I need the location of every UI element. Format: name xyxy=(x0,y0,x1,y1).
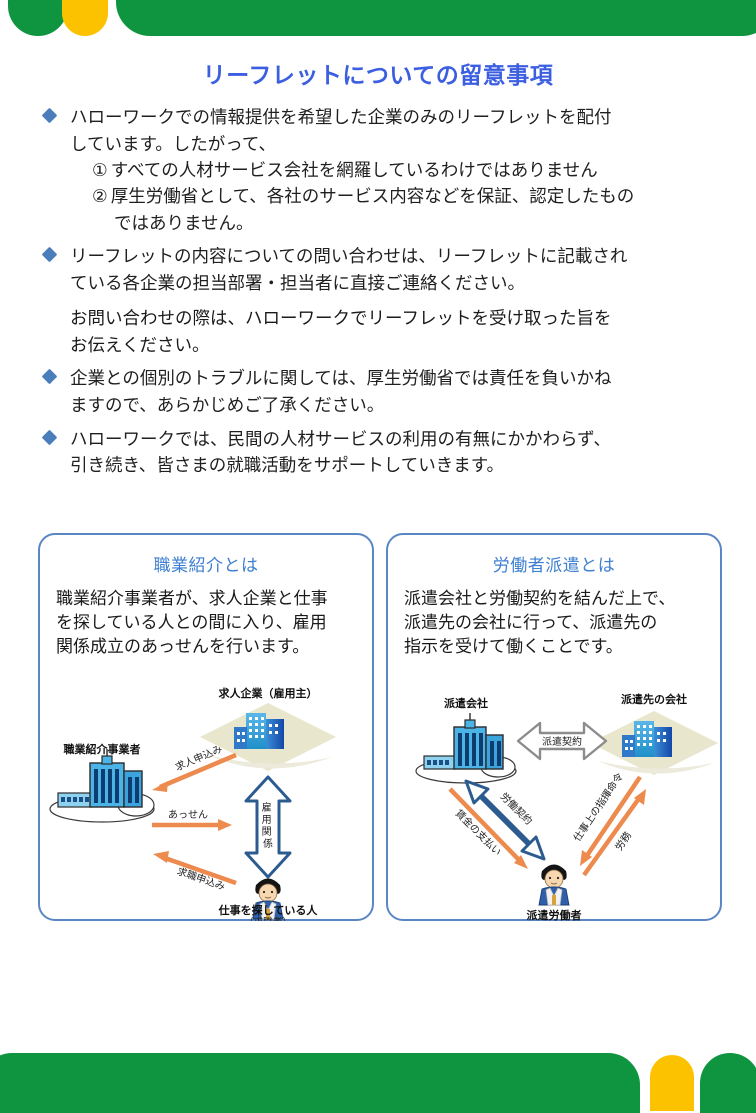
notice-line: 引き続き、皆さまの就職活動をサポートしていきます。 xyxy=(70,455,504,475)
notice-line: ますので、あらかじめご了承ください。 xyxy=(70,395,384,415)
label-employment-relation: 雇 用 関 係 xyxy=(262,801,275,850)
label-employer: 求人企業（雇用主） xyxy=(219,686,318,700)
notice-list: ハローワークでの情報提供を希望した企業のみのリーフレットを配付 しています。した… xyxy=(42,104,732,486)
panel-title: 労働者派遣とは xyxy=(388,551,720,576)
header-green-bar xyxy=(116,0,756,36)
panel-title: 職業紹介とは xyxy=(40,551,372,576)
panel-worker-dispatch: 労働者派遣とは 派遣会社と労働契約を結んだ上で、 派遣先の会社に行って、派遣先の… xyxy=(386,533,722,921)
label-dispatch-company: 派遣会社 xyxy=(444,696,488,710)
panel-job-placement: 職業紹介とは 職業紹介事業者が、求人企業と仕事 を探している人との間に入り、雇用… xyxy=(38,533,374,921)
notice-line: ている各企業の担当部署・担当者に直接ご連絡ください。 xyxy=(70,273,525,293)
panel-body-line: を探している人との間に入り、雇用 xyxy=(56,613,327,632)
notice-line: リーフレットの内容についての問い合わせは、リーフレットに記載され xyxy=(70,246,627,266)
dispatch-worker-person-icon xyxy=(539,865,569,906)
label-jobseeker-line1: 仕事を探している人 xyxy=(218,903,319,917)
notice-sub-continuation: ではありません。 xyxy=(92,210,732,236)
notice-item: ハローワークでの情報提供を希望した企業のみのリーフレットを配付 しています。した… xyxy=(42,104,732,236)
footer-decoration xyxy=(0,1045,756,1085)
panel-body-line: 関係成立のあっせんを行います。 xyxy=(56,637,309,656)
label-jobseeker-line2: （求職者） xyxy=(244,916,292,921)
notice-line: ハローワークでの情報提供を希望した企業のみのリーフレットを配付 xyxy=(70,107,611,127)
dispatch-company-building-icon xyxy=(416,713,516,783)
diamond-bullet-icon xyxy=(42,108,58,124)
agency-building-icon xyxy=(50,749,154,822)
panel-body: 職業紹介事業者が、求人企業と仕事 を探している人との間に入り、雇用 関係成立のあ… xyxy=(56,587,358,659)
panel-body-line: 職業紹介事業者が、求人企業と仕事 xyxy=(56,589,328,608)
label-dispatch-worker: 派遣労働者 xyxy=(527,908,582,921)
header-green-blob-left xyxy=(8,0,68,36)
notice-item: 企業との個別のトラブルに関しては、厚生労働省では責任を負いかね ますので、あらか… xyxy=(42,365,732,418)
notice-item: リーフレットの内容についての問い合わせは、リーフレットに記載され ている各企業の… xyxy=(42,243,732,296)
page-title: リーフレットについての留意事項 xyxy=(0,56,756,90)
diagram-worker-dispatch: 派遣会社 xyxy=(388,685,720,921)
notice-line: お問い合わせの際は、ハローワークでリーフレットを受け取った旨を xyxy=(70,308,611,328)
definition-panels: 職業紹介とは 職業紹介事業者が、求人企業と仕事 を探している人との間に入り、雇用… xyxy=(38,533,722,921)
notice-sub-item: ②厚生労働省として、各社のサービス内容などを保証、認定したもの ではありません。 xyxy=(70,183,732,236)
header-yellow-blob xyxy=(62,0,108,36)
diamond-bullet-icon xyxy=(42,369,58,385)
panel-body-line: 派遣先の会社に行って、派遣先の xyxy=(404,613,657,632)
leaflet-page: { "theme": { "green": "#0f9540", "yellow… xyxy=(0,0,756,1085)
label-client-company: 派遣先の会社 xyxy=(621,692,687,706)
panel-body-line: 指示を受けて働くことです。 xyxy=(404,637,623,656)
notice-paragraph: お問い合わせの際は、ハローワークでリーフレットを受け取った旨を お伝えください。 xyxy=(42,305,732,358)
diamond-bullet-icon xyxy=(42,247,58,263)
notice-sub-item: ①すべての人材サービス会社を網羅しているわけではありません xyxy=(70,157,732,183)
panel-body: 派遣会社と労働契約を結んだ上で、 派遣先の会社に行って、派遣先の 指示を受けて働… xyxy=(404,587,706,659)
notice-line: お伝えください。 xyxy=(70,335,209,355)
label-placement-agency: 職業紹介事業者 xyxy=(64,742,141,756)
header-decoration xyxy=(0,0,756,40)
notice-sub-text: 厚生労働省として、各社のサービス内容などを保証、認定したもの xyxy=(111,186,635,206)
notice-sub-number: ② xyxy=(92,186,108,206)
label-matching: あっせん xyxy=(168,809,208,821)
footer-yellow-blob xyxy=(650,1055,694,1111)
notice-line: ハローワークでは、民間の人材サービスの利用の有無にかかわらず、 xyxy=(70,429,611,449)
notice-line: しています。したがって、 xyxy=(70,134,276,154)
notice-line: 企業との個別のトラブルに関しては、厚生労働省では責任を負いかね xyxy=(70,368,611,388)
notice-item: ハローワークでは、民間の人材サービスの利用の有無にかかわらず、 引き続き、皆さま… xyxy=(42,426,732,479)
footer-green-blob-right xyxy=(700,1053,756,1113)
label-dispatch-contract: 派遣契約 xyxy=(542,735,582,748)
diagram-job-placement: 求人企業（雇用主） xyxy=(40,685,372,921)
arrow-labor-service xyxy=(584,789,646,875)
footer-green-bar xyxy=(0,1053,640,1113)
panel-body-line: 派遣会社と労働契約を結んだ上で、 xyxy=(404,589,675,608)
diamond-bullet-icon xyxy=(42,429,58,445)
notice-sub-number: ① xyxy=(92,160,108,180)
notice-sub-text: すべての人材サービス会社を網羅しているわけではありません xyxy=(111,160,598,180)
